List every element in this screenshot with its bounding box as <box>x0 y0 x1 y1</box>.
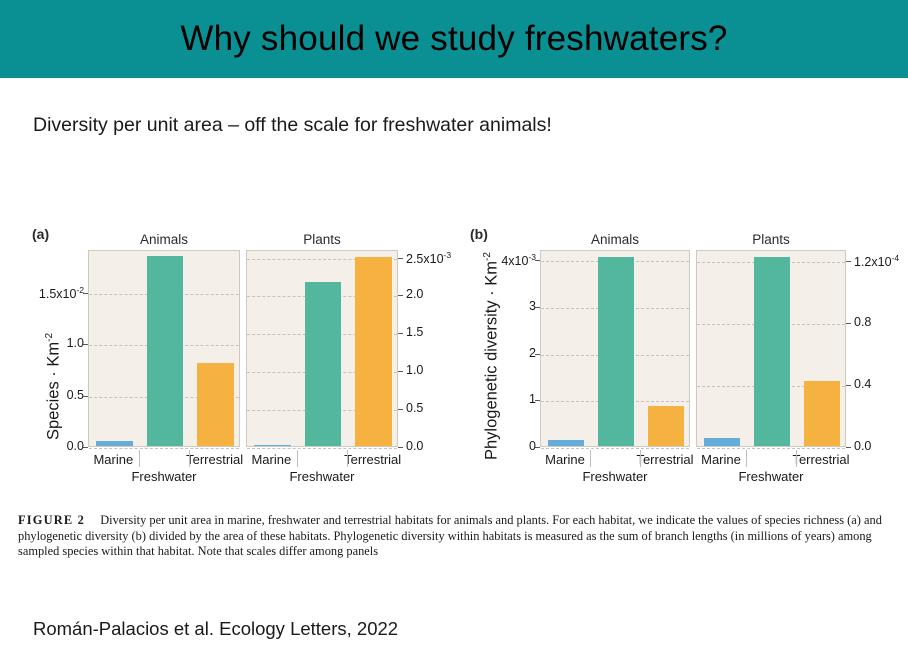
x-label-terrestrial: Terrestrial <box>784 452 859 467</box>
y-tick-mark <box>846 447 851 448</box>
bar-a-plants-freshwater <box>305 282 341 446</box>
y-tick-mark <box>398 258 403 259</box>
bar-a-plants-terrestrial <box>355 257 391 446</box>
y-tick-label: 1.0 <box>22 337 84 350</box>
panel-letter-a: (a) <box>32 226 49 242</box>
y-tick-mark <box>535 447 540 448</box>
figure-caption-label: FIGURE 2 <box>18 513 85 527</box>
y-tick-mark <box>83 344 88 345</box>
y-tick-label: 1.5 <box>406 326 468 339</box>
y-tick-label: 2 <box>478 347 536 360</box>
chart-panel-b: (b)Phylogenetic diversity · Km-2Animals0… <box>462 218 908 508</box>
bar-b-plants-terrestrial <box>804 381 840 446</box>
y-tick-mark <box>398 333 403 334</box>
bar-a-animals-terrestrial <box>197 363 233 446</box>
x-group-separator <box>640 450 641 467</box>
citation-line: Román-Palacios et al. Ecology Letters, 2… <box>33 618 398 640</box>
x-label-marine: Marine <box>233 452 309 467</box>
y-tick-mark <box>846 323 851 324</box>
y-tick-label: 1.5x10-2 <box>22 286 84 301</box>
y-tick-label: 2.5x10-3 <box>406 251 468 266</box>
y-tick-mark <box>83 447 88 448</box>
y-tick-label: 4x10-3 <box>478 253 536 268</box>
gridline <box>697 448 845 449</box>
x-group-separator <box>590 450 591 467</box>
bar-a-animals-freshwater <box>147 256 183 446</box>
y-tick-label: 0 <box>478 440 536 453</box>
x-group-separator <box>796 450 797 467</box>
y-tick-label: 1.2x10-4 <box>854 254 908 269</box>
y-tick-mark <box>398 295 403 296</box>
x-label-marine: Marine <box>528 452 603 467</box>
plot-area-b-plants <box>696 250 846 447</box>
facet-title-b-plants: Plants <box>696 232 846 247</box>
title-banner: Why should we study freshwaters? <box>0 0 908 78</box>
facet-title-b-animals: Animals <box>540 232 690 247</box>
y-tick-label: 0.0 <box>406 440 468 453</box>
bar-b-animals-marine <box>548 440 584 446</box>
y-tick-mark <box>535 260 540 261</box>
x-label-freshwater: Freshwater <box>246 469 398 484</box>
bar-b-plants-marine <box>704 438 740 446</box>
plot-area-b-animals <box>540 250 690 447</box>
plot-area-a-animals <box>88 250 240 447</box>
y-tick-label: 0.5 <box>22 389 84 402</box>
figure-2: (a)Species · Km-2Animals0.00.51.01.5x10-… <box>0 218 908 508</box>
gridline <box>541 448 689 449</box>
chart-panel-a: (a)Species · Km-2Animals0.00.51.01.5x10-… <box>22 218 462 508</box>
y-tick-mark <box>535 400 540 401</box>
bar-b-plants-freshwater <box>754 257 790 446</box>
bar-b-animals-freshwater <box>598 257 634 446</box>
x-label-marine: Marine <box>684 452 759 467</box>
x-group-separator <box>746 450 747 467</box>
y-tick-label: 3 <box>478 300 536 313</box>
x-label-marine: Marine <box>75 452 151 467</box>
y-tick-label: 2.0 <box>406 288 468 301</box>
x-label-freshwater: Freshwater <box>696 469 846 484</box>
x-label-terrestrial: Terrestrial <box>335 452 411 467</box>
y-tick-mark <box>398 409 403 410</box>
y-tick-mark <box>535 307 540 308</box>
facet-title-a-animals: Animals <box>88 232 240 247</box>
y-tick-mark <box>83 396 88 397</box>
y-tick-label: 0.0 <box>854 440 908 453</box>
bar-a-plants-marine <box>254 445 290 447</box>
x-label-freshwater: Freshwater <box>88 469 240 484</box>
facet-title-a-plants: Plants <box>246 232 398 247</box>
y-tick-label: 1.0 <box>406 364 468 377</box>
slide-subtitle: Diversity per unit area – off the scale … <box>33 114 552 137</box>
x-label-freshwater: Freshwater <box>540 469 690 484</box>
y-tick-mark <box>846 385 851 386</box>
y-tick-mark <box>398 447 403 448</box>
x-group-separator <box>347 450 348 467</box>
x-group-separator <box>297 450 298 467</box>
figure-caption-text: Diversity per unit area in marine, fresh… <box>18 513 882 558</box>
page-title: Why should we study freshwaters? <box>180 19 727 59</box>
y-tick-label: 0.5 <box>406 402 468 415</box>
panel-letter-b: (b) <box>470 226 488 242</box>
bar-b-animals-terrestrial <box>648 406 684 446</box>
y-tick-mark <box>535 354 540 355</box>
y-tick-mark <box>398 371 403 372</box>
y-tick-label: 0.8 <box>854 316 908 329</box>
bar-a-animals-marine <box>96 441 132 446</box>
y-tick-label: 0.0 <box>22 440 84 453</box>
figure-caption: FIGURE 2 Diversity per unit area in mari… <box>18 513 894 560</box>
y-tick-label: 0.4 <box>854 378 908 391</box>
y-tick-mark <box>846 261 851 262</box>
gridline <box>89 448 239 449</box>
y-tick-label: 1 <box>478 393 536 406</box>
plot-area-a-plants <box>246 250 398 447</box>
x-group-separator <box>139 450 140 467</box>
gridline <box>247 448 397 449</box>
x-group-separator <box>189 450 190 467</box>
y-tick-mark <box>83 293 88 294</box>
